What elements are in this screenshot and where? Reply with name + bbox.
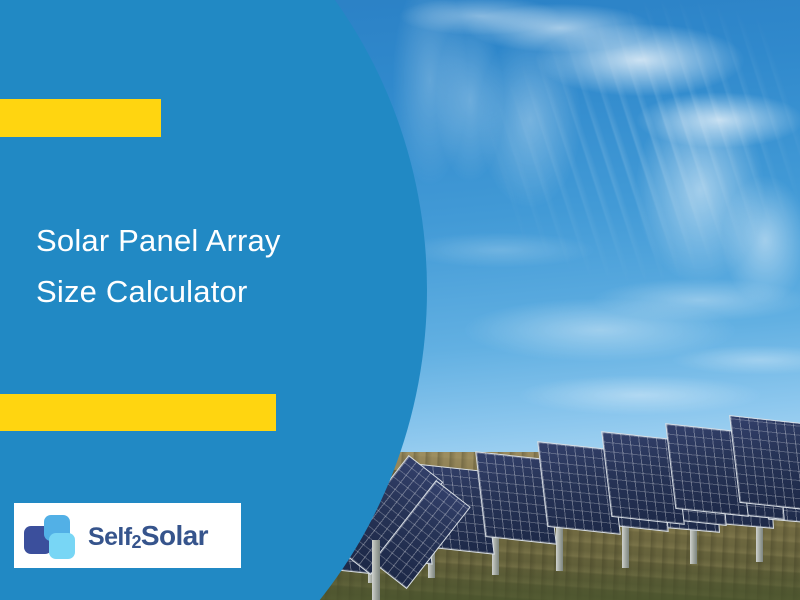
- bottom-accent-bar: [0, 394, 276, 431]
- top-accent-bar: [0, 99, 161, 137]
- page-title: Solar Panel Array Size Calculator: [36, 215, 366, 317]
- logo-light-square-icon: [49, 533, 75, 559]
- panel-support-post: [372, 540, 380, 600]
- slide-canvas: Solar Panel Array Size Calculator Self2S…: [0, 0, 800, 600]
- logo-lockup[interactable]: Self2Solar: [14, 503, 241, 568]
- logo-word-self: Self: [88, 523, 131, 551]
- logo-word-two: 2: [131, 532, 140, 552]
- self2solar-mark-icon: [24, 512, 80, 560]
- solar-panel: [729, 415, 800, 511]
- logo-wordmark: Self2Solar: [88, 522, 208, 550]
- logo-word-solar: Solar: [141, 520, 208, 551]
